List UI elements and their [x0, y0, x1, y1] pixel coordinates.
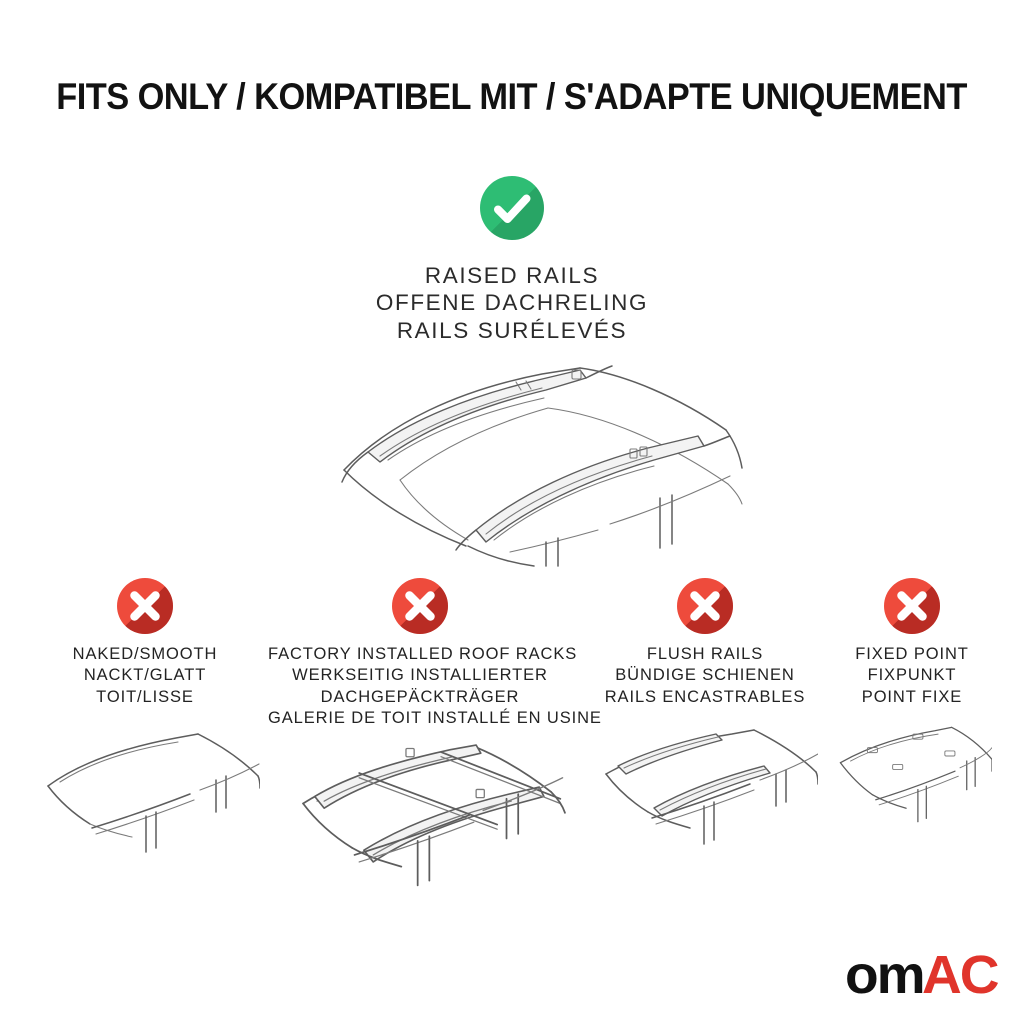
col-badge-wrap — [592, 578, 818, 634]
col-badge-wrap — [30, 578, 260, 634]
incompatible-labels: FACTORY INSTALLED ROOF RACKS WERKSEITIG … — [268, 644, 572, 730]
col-badge-wrap — [832, 578, 992, 634]
incompatible-item-fixed-point: FIXED POINT FIXPUNKT POINT FIXE — [832, 578, 992, 708]
car-roof-bare-illustration — [30, 724, 260, 874]
incompatible-item-naked-smooth: NAKED/SMOOTH NACKT/GLATT TOIT/LISSE — [30, 578, 260, 708]
label-en: FIXED POINT — [832, 644, 992, 665]
logo-text-red: AC — [922, 948, 997, 1002]
logo-text-dark: om — [845, 948, 924, 1002]
label-de-1: WERKSEITIG INSTALLIERTER — [268, 665, 572, 686]
compatible-section: RAISED RAILS OFFENE DACHRELING RAILS SUR… — [0, 176, 1024, 344]
label-en: FACTORY INSTALLED ROOF RACKS — [268, 644, 572, 665]
label-fr: POINT FIXE — [832, 687, 992, 708]
page-title: FITS ONLY / KOMPATIBEL MIT / S'ADAPTE UN… — [57, 76, 968, 118]
check-circle-icon — [480, 176, 544, 240]
car-roof-flush-rails-illustration — [592, 724, 818, 874]
page-header: FITS ONLY / KOMPATIBEL MIT / S'ADAPTE UN… — [0, 74, 1024, 120]
label-de: FIXPUNKT — [832, 665, 992, 686]
label-de: BÜNDIGE SCHIENEN — [592, 665, 818, 686]
incompatible-labels: FLUSH RAILS BÜNDIGE SCHIENEN RAILS ENCAS… — [592, 644, 818, 708]
incompatible-labels: FIXED POINT FIXPUNKT POINT FIXE — [832, 644, 992, 708]
col-badge-wrap — [268, 578, 572, 634]
incompatible-item-flush-rails: FLUSH RAILS BÜNDIGE SCHIENEN RAILS ENCAS… — [592, 578, 818, 708]
compatible-label-fr: RAILS SURÉLEVÉS — [376, 317, 648, 344]
incompatible-labels: NAKED/SMOOTH NACKT/GLATT TOIT/LISSE — [30, 644, 260, 708]
x-circle-icon — [677, 578, 733, 634]
x-circle-icon — [392, 578, 448, 634]
label-en: NAKED/SMOOTH — [30, 644, 260, 665]
car-roof-fixed-point-illustration — [832, 724, 992, 874]
car-roof-with-crossbars-illustration — [268, 738, 572, 888]
car-roof-raised-rails-illustration — [280, 352, 750, 567]
omac-logo: om AC — [845, 948, 996, 1004]
compatible-label-en: RAISED RAILS — [376, 262, 648, 289]
incompatible-item-factory-roof-racks: FACTORY INSTALLED ROOF RACKS WERKSEITIG … — [268, 578, 572, 730]
label-de-2: DACHGEPÄCKTRÄGER — [268, 687, 572, 708]
label-fr: RAILS ENCASTRABLES — [592, 687, 818, 708]
label-fr: GALERIE DE TOIT INSTALLÉ EN USINE — [268, 708, 572, 729]
compatible-labels: RAISED RAILS OFFENE DACHRELING RAILS SUR… — [376, 262, 648, 344]
label-de: NACKT/GLATT — [30, 665, 260, 686]
x-circle-icon — [117, 578, 173, 634]
label-fr: TOIT/LISSE — [30, 687, 260, 708]
x-circle-icon — [884, 578, 940, 634]
compatible-label-de: OFFENE DACHRELING — [376, 289, 648, 316]
incompatible-section: NAKED/SMOOTH NACKT/GLATT TOIT/LISSE — [0, 578, 1024, 908]
label-en: FLUSH RAILS — [592, 644, 818, 665]
